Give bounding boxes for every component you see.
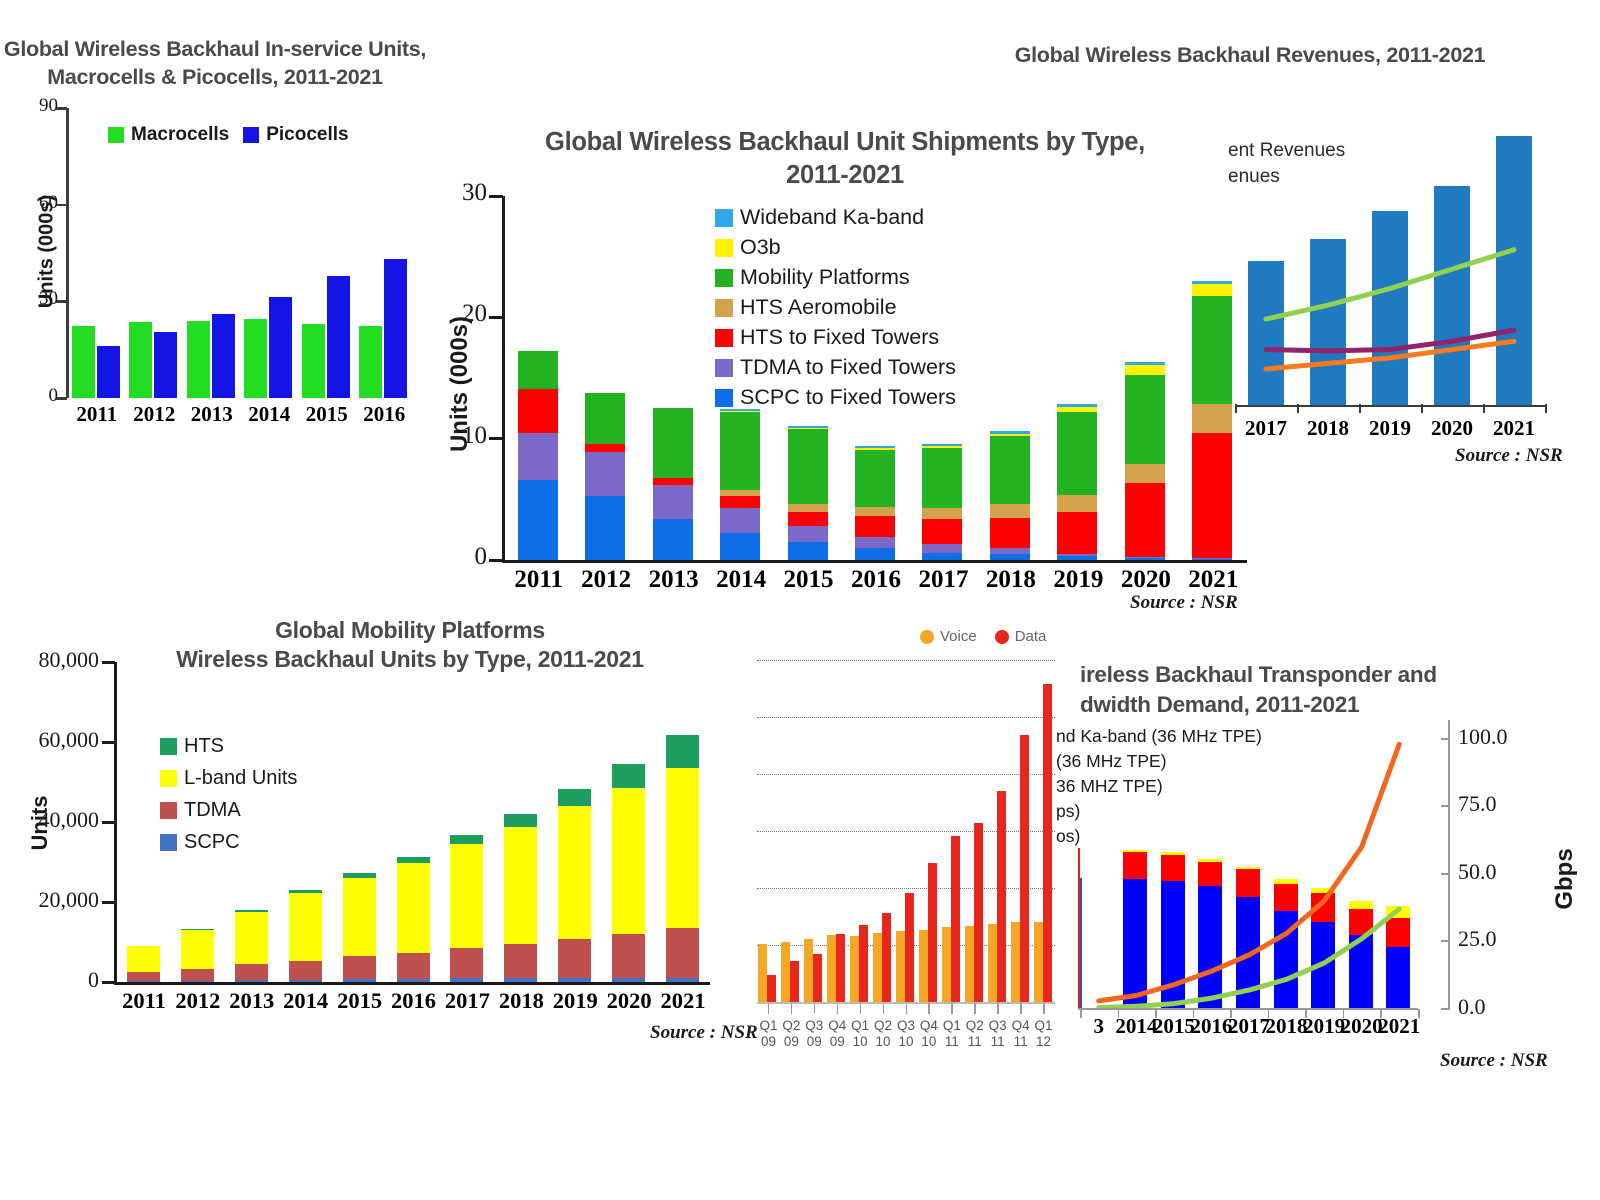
- chart2-x-label: 2011: [505, 566, 573, 594]
- chart5-bar-segment-red-transponders: [1198, 862, 1222, 887]
- chart3-bar-segment-hts: [612, 764, 645, 788]
- chart3-bar-segment-l-band-units: [558, 806, 591, 939]
- chart1-bar-picocells: [154, 332, 177, 398]
- chart5-bar-stack: [1161, 838, 1185, 1008]
- chart2-legend-item: Wideband Ka-band: [715, 205, 956, 230]
- chart3-bar-segment-l-band-units: [504, 827, 537, 944]
- chart3-legend-swatch: [160, 802, 177, 819]
- chart2-source-note: Source : NSR: [1130, 592, 1238, 614]
- chart2-bar-stack: [518, 196, 558, 560]
- chart4-bar-voice: [873, 933, 882, 1002]
- chart4-bar-pair: [781, 660, 799, 1002]
- chart4-bar-voice: [781, 942, 790, 1002]
- chart2-bar-segment-hts-aeromobile: [1057, 495, 1097, 512]
- chart2-legend-label: HTS to Fixed Towers: [740, 325, 939, 350]
- chart2-bar-segment-mobility-platforms: [922, 448, 962, 507]
- chart4-bar-pair: [896, 660, 914, 1002]
- chart2-bar-segment-hts-to-fixed-towers: [1057, 512, 1097, 554]
- chart2-bar-segment-mobility-platforms: [788, 429, 828, 504]
- chart2-bar-stack: [1057, 196, 1097, 560]
- chart5-legend-label: os): [1056, 826, 1080, 847]
- chart3-y-tick-label: 40,000: [0, 807, 99, 833]
- chart5-bar-stack: [1311, 838, 1335, 1008]
- chart1-y-tick-label: 30: [0, 288, 58, 310]
- chart4-legend-dot: [920, 630, 934, 644]
- chart4-legend: VoiceData: [920, 628, 1046, 645]
- chart2-x-axis: [502, 560, 1247, 563]
- chart4-x-tick: [768, 1003, 770, 1014]
- chart3-legend-item: SCPC: [160, 831, 297, 854]
- chart3-bar-segment-hts: [504, 814, 537, 827]
- chart4-bar-data: [928, 863, 937, 1002]
- chart2-x-label: 2013: [640, 566, 708, 594]
- chart2-bar-segment-hts-to-fixed-towers: [585, 444, 625, 452]
- chart3-bar-segment-tdma: [343, 956, 376, 979]
- chart6-x-label: 2021: [1483, 416, 1545, 441]
- chart2-bar-stack: [1192, 196, 1232, 560]
- chart2-bar-segment-hts-to-fixed-towers: [788, 512, 828, 527]
- chart2-legend-swatch: [715, 359, 733, 377]
- chart2-bar-segment-tdma-to-fixed-towers: [518, 433, 558, 480]
- chart2-bar-segment-scpc-to-fixed-towers: [1057, 556, 1097, 560]
- chart3-bar-segment-tdma: [127, 972, 160, 981]
- chart3-x-label: 2014: [275, 988, 337, 1014]
- chart5-bar-segment-blue-transponders: [1274, 911, 1298, 1008]
- chart2-bar-segment-mobility-platforms: [855, 450, 895, 507]
- chart3-bar-stack: [343, 662, 376, 982]
- chart1-bar-group: [129, 108, 177, 398]
- chart4-bar-pair: [873, 660, 891, 1002]
- chart2-bar-stack: [585, 196, 625, 560]
- chart2-bar-segment-tdma-to-fixed-towers: [922, 544, 962, 552]
- chart3-bar-segment-scpc: [450, 978, 483, 982]
- chart3-bar-segment-scpc: [504, 978, 537, 982]
- chart3-y-tick-label: 0: [0, 967, 99, 993]
- chart2-bar-segment-scpc-to-fixed-towers: [990, 554, 1030, 560]
- chart2-x-label: 2014: [707, 566, 775, 594]
- chart3-y-tick-label: 80,000: [0, 647, 99, 673]
- chart2-bar-segment-hts-aeromobile: [1125, 464, 1165, 483]
- chart5-bar-segment-blue-transponders: [1198, 886, 1222, 1008]
- chart2-bar-segment-mobility-platforms: [720, 412, 760, 490]
- chart2-bar-segment-tdma-to-fixed-towers: [720, 508, 760, 533]
- chart4-x-tick: [974, 1003, 976, 1014]
- chart5-bar-segment-red-transponders: [1274, 884, 1298, 911]
- chart4-bar-pair: [758, 660, 776, 1002]
- chart3-bar-segment-tdma: [612, 934, 645, 978]
- chart5-bar-stack: [1349, 838, 1373, 1008]
- chart2-bar-segment-scpc-to-fixed-towers: [855, 548, 895, 560]
- chart1-legend-item: Picocells: [243, 124, 348, 146]
- chart3-bar-stack: [558, 662, 591, 982]
- chart3-bar-segment-scpc: [666, 978, 699, 982]
- chart2-y-axis: [502, 196, 505, 560]
- chart4-legend-item: Voice: [920, 628, 977, 645]
- chart3-bar-segment-hts: [558, 789, 591, 806]
- chart5-source-note: Source : NSR: [1440, 1050, 1548, 1072]
- chart4-bar-pair: [988, 660, 1006, 1002]
- chart1-x-label: 2016: [355, 402, 413, 427]
- chart1-y-tick-label: 60: [0, 192, 58, 214]
- chart1-x-label: 2011: [68, 402, 126, 427]
- chart5-bar-stack: [1123, 838, 1147, 1008]
- chart6-x-tick: [1359, 404, 1361, 413]
- chart1-bar-picocells: [212, 314, 235, 398]
- chart3-x-label: 2011: [113, 988, 175, 1014]
- chart2-bar-segment-scpc-to-fixed-towers: [1192, 559, 1232, 560]
- chart4-legend-dot: [995, 630, 1009, 644]
- chart3-bar-stack: [450, 662, 483, 982]
- chart1-y-axis: [66, 108, 69, 398]
- chart3-bar-stack: [666, 662, 699, 982]
- chart3-bar-segment-l-band-units: [127, 946, 160, 972]
- chart2-legend-item: TDMA to Fixed Towers: [715, 355, 956, 380]
- chart5-bar-segment-red-transponders: [1236, 869, 1260, 896]
- chart2-bar-segment-hts-to-fixed-towers: [990, 518, 1030, 548]
- chart4-x-tick: [883, 1003, 885, 1014]
- chart1-bar-picocells: [97, 346, 120, 398]
- chart5-bar-segment-red-transponders: [1123, 852, 1147, 878]
- chart3-bar-segment-scpc: [343, 979, 376, 982]
- chart3-bar-segment-scpc: [289, 980, 322, 982]
- chart5-right-tick: [1441, 940, 1449, 942]
- chart4-bar-data: [974, 823, 983, 1002]
- chart5-bar-segment-yellow-transponders: [1386, 906, 1410, 918]
- chart5-bar-stack: [1386, 838, 1410, 1008]
- chart2-legend-item: O3b: [715, 235, 956, 260]
- chart2-bar-segment-mobility-platforms: [653, 408, 693, 477]
- chart5-bar-segment-red-transponders: [1161, 855, 1185, 881]
- chart3-legend-item: L-band Units: [160, 767, 297, 790]
- chart3-legend-label: TDMA: [184, 799, 241, 822]
- chart2-bar-segment-mobility-platforms: [518, 351, 558, 389]
- chart1-legend-label: Macrocells: [131, 124, 229, 146]
- chart1-x-label: 2012: [125, 402, 183, 427]
- chart6-x-tick: [1483, 404, 1485, 413]
- chart3-y-tick: [102, 901, 115, 904]
- chart3-y-tick: [102, 821, 115, 824]
- chart3-bar-segment-tdma: [558, 939, 591, 978]
- chart2-bar-segment-hts-to-fixed-towers: [1192, 433, 1232, 558]
- chart3-y-tick: [102, 981, 115, 984]
- chart6-x-tick: [1421, 404, 1423, 413]
- chart2-bar-stack: [990, 196, 1030, 560]
- chart3-x-label: 2021: [652, 988, 714, 1014]
- chart4-x-tick: [951, 1003, 953, 1014]
- chart3-bar-segment-hts: [666, 735, 699, 768]
- chart3-bar-stack: [127, 662, 160, 982]
- chart2-legend-label: HTS Aeromobile: [740, 295, 897, 320]
- chart2-bar-segment-hts-to-fixed-towers: [1125, 483, 1165, 557]
- chart2-bar-segment-mobility-platforms: [585, 393, 625, 444]
- chart4-x-tick: [928, 1003, 930, 1014]
- chart4-x-tick: [860, 1003, 862, 1014]
- chart4-bar-pair: [942, 660, 960, 1002]
- chart2-y-tick-label: 0: [429, 543, 487, 571]
- chart2-x-label: 2020: [1112, 566, 1180, 594]
- chart6-x-label: 2018: [1297, 416, 1359, 441]
- chart2-legend-label: O3b: [740, 235, 781, 260]
- chart1-bar-group: [302, 108, 350, 398]
- chart3-bar-segment-l-band-units: [235, 912, 268, 964]
- chart5-bar-segment-yellow-transponders: [1349, 901, 1373, 909]
- chart3-legend-label: SCPC: [184, 831, 240, 854]
- chart2-x-label: 2012: [572, 566, 640, 594]
- chart-unit-shipments-title: Global Wireless Backhaul Unit Shipments …: [495, 126, 1195, 191]
- chart2-legend-item: SCPC to Fixed Towers: [715, 385, 956, 410]
- chart2-y-tick-label: 10: [429, 422, 487, 450]
- chart1-bar-group: [187, 108, 235, 398]
- chart1-x-label: 2014: [240, 402, 298, 427]
- chart5-bar-segment-red-transponders: [1386, 918, 1410, 947]
- chart2-bar-segment-scpc-to-fixed-towers: [922, 553, 962, 560]
- chart2-y-tick-label: 30: [429, 179, 487, 207]
- chart2-y-tick: [489, 437, 503, 440]
- chart1-bar-picocells: [384, 259, 407, 398]
- chart3-bar-segment-tdma: [289, 961, 322, 980]
- chart2-legend: Wideband Ka-bandO3bMobility PlatformsHTS…: [715, 205, 956, 415]
- chart1-bar-macrocells: [244, 319, 267, 398]
- chart4-x-tick: [791, 1003, 793, 1014]
- chart4-bar-data: [905, 893, 914, 1002]
- chart4-bar-voice: [827, 935, 836, 1002]
- chart1-legend: MacrocellsPicocells: [108, 124, 349, 148]
- chart-transponder-bandwidth-title: ireless Backhaul Transponder and dwidth …: [1080, 660, 1560, 720]
- chart1-bar-macrocells: [302, 324, 325, 398]
- chart4-bar-data: [836, 934, 845, 1002]
- chart3-bar-segment-scpc: [397, 979, 430, 982]
- chart5-right-tick-label: 50.0: [1458, 859, 1542, 885]
- chart1-bar-macrocells: [129, 322, 152, 398]
- chart2-bar-segment-scpc-to-fixed-towers: [720, 533, 760, 560]
- chart2-y-tick-label: 20: [429, 300, 487, 328]
- chart3-x-label: 2020: [598, 988, 660, 1014]
- chart5-x-label: 2021: [1369, 1014, 1429, 1039]
- chart4-bar-pair: [804, 660, 822, 1002]
- chart2-x-label: 2017: [909, 566, 977, 594]
- chart6-bar: [1496, 136, 1532, 405]
- chart2-bar-segment-mobility-platforms: [1192, 296, 1232, 404]
- chart4-bar-pair: [827, 660, 845, 1002]
- chart3-bar-segment-l-band-units: [343, 878, 376, 956]
- chart3-bar-segment-scpc: [235, 980, 268, 982]
- chart6-x-tick: [1545, 404, 1547, 413]
- chart1-legend-item: Macrocells: [108, 124, 229, 146]
- chart3-bar-segment-l-band-units: [612, 788, 645, 934]
- chart2-legend-swatch: [715, 239, 733, 257]
- chart2-bar-segment-scpc-to-fixed-towers: [788, 542, 828, 560]
- chart3-bar-segment-l-band-units: [666, 768, 699, 928]
- chart2-bar-segment-hts-to-fixed-towers: [518, 389, 558, 433]
- chart3-bar-segment-tdma: [397, 953, 430, 979]
- chart1-legend-swatch: [108, 127, 124, 143]
- chart5-x-axis: [1078, 1008, 1418, 1010]
- chart4-bar-voice: [965, 926, 974, 1002]
- chart-revenues-title: Global Wireless Backhaul Revenues, 2011-…: [900, 42, 1600, 70]
- chart6-x-label: 2020: [1421, 416, 1483, 441]
- chart1-legend-swatch: [243, 127, 259, 143]
- chart2-bar-segment-hts-to-fixed-towers: [653, 478, 693, 485]
- chart2-x-label: 2018: [977, 566, 1045, 594]
- chart6-x-tick: [1297, 404, 1299, 413]
- chart3-bar-stack: [504, 662, 537, 982]
- chart5-right-axis: [1448, 720, 1450, 1010]
- chart1-x-label: 2015: [298, 402, 356, 427]
- chart1-bar-macrocells: [187, 321, 210, 398]
- chart3-legend-swatch: [160, 738, 177, 755]
- chart2-legend-item: HTS to Fixed Towers: [715, 325, 956, 350]
- chart4-bar-pair: [1011, 660, 1029, 1002]
- chart4-bar-data: [813, 954, 822, 1002]
- chart3-y-tick: [102, 661, 115, 664]
- chart4-x-tick: [1020, 1003, 1022, 1014]
- chart2-legend-swatch: [715, 299, 733, 317]
- chart3-x-label: 2012: [167, 988, 229, 1014]
- chart4-bar-voice: [942, 927, 951, 1002]
- chart4-bar-voice: [804, 939, 813, 1002]
- chart2-bar-stack: [1125, 196, 1165, 560]
- chart3-legend-label: L-band Units: [184, 767, 297, 790]
- chart2-bar-segment-scpc-to-fixed-towers: [653, 519, 693, 560]
- chart2-bar-segment-hts-to-fixed-towers: [922, 519, 962, 544]
- chart3-x-label: 2015: [329, 988, 391, 1014]
- chart3-bar-stack: [397, 662, 430, 982]
- chart3-x-label: 2018: [490, 988, 552, 1014]
- chart2-legend-swatch: [715, 269, 733, 287]
- chart2-y-tick: [489, 559, 503, 562]
- chart5-right-tick-label: 0.0: [1458, 994, 1542, 1020]
- chart2-bar-segment-hts-aeromobile: [855, 507, 895, 517]
- chart1-bar-picocells: [327, 276, 350, 398]
- chart4-bar-voice: [758, 944, 767, 1002]
- chart1-bar-group: [244, 108, 292, 398]
- chart2-legend-label: TDMA to Fixed Towers: [740, 355, 956, 380]
- chart3-bar-segment-tdma: [504, 944, 537, 978]
- chart5-legend-label: ps): [1056, 801, 1080, 822]
- chart3-x-label: 2017: [436, 988, 498, 1014]
- chart5-right-tick: [1441, 1008, 1449, 1010]
- chart4-bar-data: [859, 925, 868, 1002]
- chart6-x-label: 2019: [1359, 416, 1421, 441]
- chart2-bar-segment-hts-aeromobile: [1192, 404, 1232, 433]
- chart4-bar-data: [882, 913, 891, 1002]
- chart3-bar-segment-l-band-units: [450, 844, 483, 948]
- chart3-x-label: 2016: [383, 988, 445, 1014]
- chart5-right-tick: [1441, 873, 1449, 875]
- chart3-bar-segment-tdma: [181, 969, 214, 981]
- chart1-bar-macrocells: [72, 326, 95, 399]
- chart5-bar-segment-red-transponders: [1349, 909, 1373, 935]
- chart2-bar-segment-tdma-to-fixed-towers: [855, 537, 895, 548]
- chart2-bar-segment-mobility-platforms: [1057, 412, 1097, 495]
- chart4-bar-voice: [988, 924, 997, 1002]
- chart2-legend-swatch: [715, 329, 733, 347]
- chart5-bar-stack: [1236, 838, 1260, 1008]
- chart5-right-tick-label: 25.0: [1458, 926, 1542, 952]
- chart4-x-tick: [837, 1003, 839, 1014]
- chart1-bar-group: [359, 108, 407, 398]
- chart2-legend-swatch: [715, 209, 733, 227]
- chart5-right-tick: [1441, 805, 1449, 807]
- chart5-legend-label: 36 MHZ TPE): [1056, 776, 1163, 797]
- chart4-bar-data: [951, 836, 960, 1002]
- chart6-x-axis: [1235, 405, 1545, 407]
- chart4-bar-data: [767, 975, 776, 1002]
- chart5-bar-segment-blue-transponders: [1386, 947, 1410, 1008]
- chart2-bar-segment-tdma-to-fixed-towers: [585, 452, 625, 496]
- chart3-y-tick: [102, 741, 115, 744]
- chart2-x-label: 2015: [775, 566, 843, 594]
- chart4-bar-voice: [919, 930, 928, 1002]
- chart1-legend-label: Picocells: [266, 124, 348, 146]
- chart3-bar-segment-l-band-units: [289, 893, 322, 961]
- chart5-bar-segment-blue-transponders: [1161, 881, 1185, 1008]
- chart1-bar-picocells: [269, 297, 292, 399]
- chart5-bar-stack: [1274, 838, 1298, 1008]
- chart5-left-axis-blue: [1080, 878, 1082, 1008]
- chart5-right-tick: [1441, 738, 1449, 740]
- chart4-bar-voice: [850, 936, 859, 1002]
- chart3-legend-item: TDMA: [160, 799, 297, 822]
- chart4-bar-data: [790, 961, 799, 1002]
- chart3-y-tick-label: 20,000: [0, 887, 99, 913]
- chart3-legend-item: HTS: [160, 735, 297, 758]
- chart5-bar-stack: [1198, 838, 1222, 1008]
- chart3-bar-segment-hts: [450, 835, 483, 844]
- chart2-legend-item: HTS Aeromobile: [715, 295, 956, 320]
- chart2-y-tick: [489, 195, 503, 198]
- chart3-bar-stack: [612, 662, 645, 982]
- chart3-bar-segment-scpc: [127, 981, 160, 982]
- chart2-bar-stack: [653, 196, 693, 560]
- chart2-bar-segment-scpc-to-fixed-towers: [585, 496, 625, 560]
- chart3-legend-swatch: [160, 834, 177, 851]
- chart5-bar-segment-blue-transponders: [1349, 935, 1373, 1008]
- chart1-y-tick-label: 90: [0, 95, 58, 117]
- chart5-legend-label: (36 MHz TPE): [1056, 751, 1167, 772]
- chart4-bar-data: [997, 791, 1006, 1002]
- chart6-source-note: Source : NSR: [1455, 445, 1563, 467]
- chart4-legend-item: Data: [995, 628, 1047, 645]
- chart4-bar-data: [1020, 735, 1029, 1002]
- chart4-bar-pair: [919, 660, 937, 1002]
- chart2-bar-segment-hts-to-fixed-towers: [720, 496, 760, 508]
- chart3-bar-segment-tdma: [666, 928, 699, 977]
- chart3-bar-segment-scpc: [612, 978, 645, 982]
- chart2-x-label: 2019: [1044, 566, 1112, 594]
- chart6-bar: [1372, 211, 1408, 405]
- chart2-bar-segment-hts-aeromobile: [922, 508, 962, 519]
- chart6-bar: [1434, 186, 1470, 405]
- chart5-bar-segment-blue-transponders: [1123, 879, 1147, 1008]
- chart5-legend-label: nd Ka-band (36 MHz TPE): [1056, 726, 1262, 747]
- chart1-x-label: 2013: [183, 402, 241, 427]
- chart3-bar-segment-tdma: [450, 948, 483, 978]
- chart4-bar-pair: [850, 660, 868, 1002]
- chart5-bar-segment-blue-transponders: [1311, 922, 1335, 1008]
- chart4-legend-label: Voice: [940, 628, 977, 645]
- chart2-bar-segment-hts-aeromobile: [788, 504, 828, 511]
- chart4-bar-pair: [965, 660, 983, 1002]
- chart2-bar-segment-scpc-to-fixed-towers: [518, 480, 558, 560]
- chart2-y-tick: [489, 316, 503, 319]
- chart2-x-label: 2021: [1179, 566, 1247, 594]
- chart2-bar-segment-hts-to-fixed-towers: [855, 516, 895, 537]
- chart3-y-tick-label: 60,000: [0, 727, 99, 753]
- chart3-bar-segment-scpc: [181, 981, 214, 982]
- chart5-right-axis-title: Gbps: [1551, 834, 1579, 924]
- chart3-bar-segment-tdma: [235, 964, 268, 980]
